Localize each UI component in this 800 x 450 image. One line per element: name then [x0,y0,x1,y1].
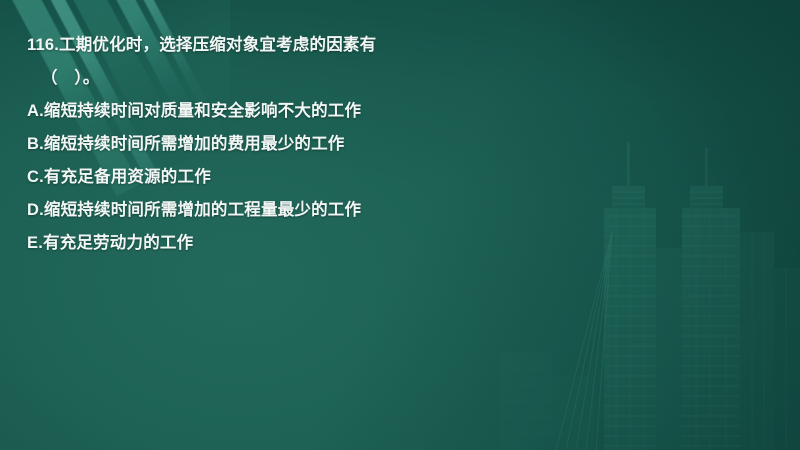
question-stem-line-2: （ ）。 [27,62,800,95]
option-c[interactable]: C.有充足备用资源的工作 [27,161,800,194]
option-b[interactable]: B.缩短持续时间所需增加的费用最少的工作 [27,128,800,161]
option-d[interactable]: D.缩短持续时间所需增加的工程量最少的工作 [27,194,800,227]
question-stem-line-1: 116.工期优化时，选择压缩对象宜考虑的因素有 [27,29,800,62]
option-a[interactable]: A.缩短持续时间对质量和安全影响不大的工作 [27,95,800,128]
slide-canvas: 116.工期优化时，选择压缩对象宜考虑的因素有 （ ）。 A.缩短持续时间对质量… [0,0,800,450]
question-content: 116.工期优化时，选择压缩对象宜考虑的因素有 （ ）。 A.缩短持续时间对质量… [0,0,800,260]
option-e[interactable]: E.有充足劳动力的工作 [27,227,800,260]
